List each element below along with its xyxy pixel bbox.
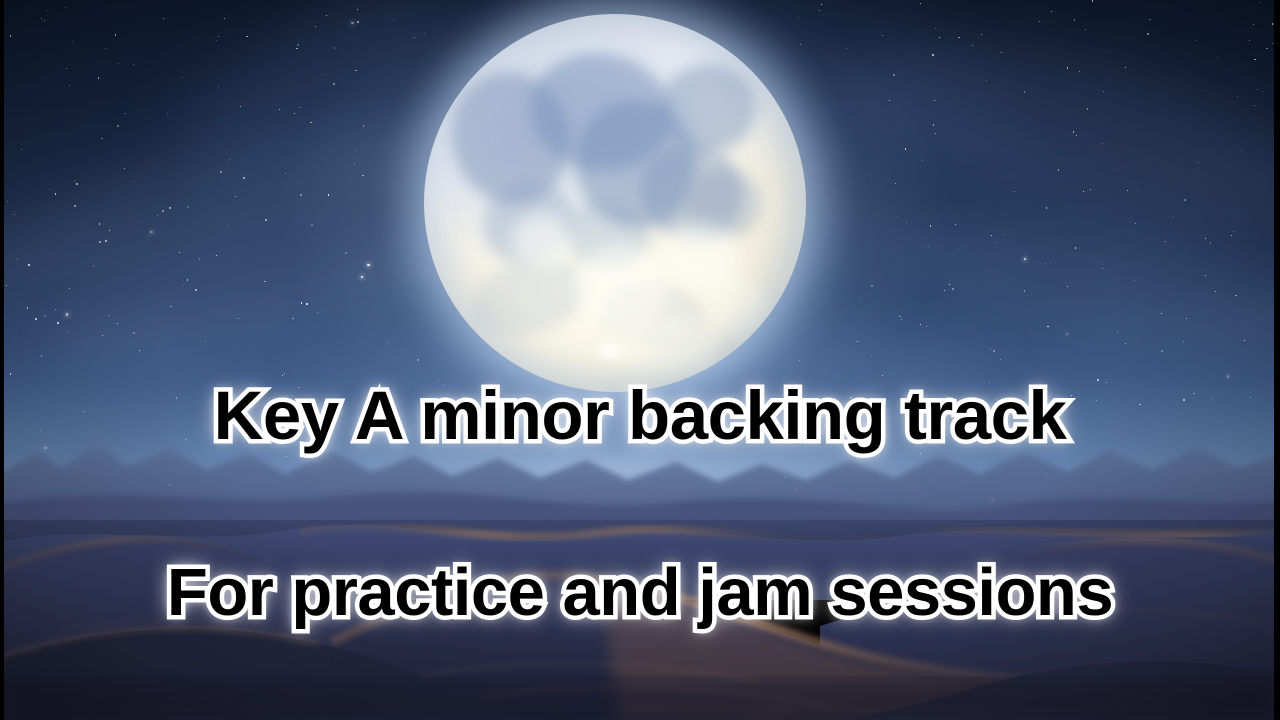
star [297,44,299,46]
star [1254,105,1255,106]
star [218,86,219,87]
star [240,106,241,107]
star [1046,207,1047,208]
star [926,326,927,327]
star [296,48,297,49]
star [438,380,439,381]
star [1260,2,1261,3]
star [1014,191,1015,192]
star [74,205,76,207]
star [935,133,936,134]
star [99,241,101,243]
star [1004,234,1005,235]
star [1125,67,1126,68]
star [326,15,327,16]
star [176,397,178,399]
star [819,10,820,11]
star [101,138,102,139]
star [357,9,358,10]
star [1045,263,1046,264]
star [284,373,285,374]
star [928,246,929,247]
star [205,341,206,342]
star [157,215,158,216]
star [72,41,73,42]
star [939,37,940,38]
star [235,196,236,197]
star [27,307,28,308]
star [944,290,945,291]
star [945,395,946,396]
star [44,315,46,317]
star [920,324,921,325]
star [74,180,75,181]
star [246,36,248,38]
star [930,225,931,226]
star [1138,190,1139,191]
star [1067,286,1068,287]
star [229,159,230,160]
star [28,264,29,265]
star [897,216,898,217]
star [224,18,225,19]
star [1090,189,1091,190]
star [117,371,118,372]
star [105,240,107,242]
star [1024,290,1025,291]
star [972,45,973,46]
star [357,21,358,22]
star [1227,375,1230,378]
star [1000,359,1001,360]
star [167,113,168,114]
star [5,318,6,319]
star [55,193,56,194]
star [1058,169,1059,170]
star [1097,379,1099,381]
moon [424,14,806,392]
star [1253,24,1254,25]
star [955,224,956,225]
star [195,289,197,291]
star [850,397,851,398]
star [882,35,883,36]
star [218,36,219,37]
star [1083,191,1084,192]
star [1024,91,1025,92]
star [93,265,94,266]
star [934,100,936,102]
star [846,48,847,49]
star [993,350,995,352]
star [906,222,907,223]
star [362,175,364,177]
star [958,37,959,38]
star [1217,56,1218,57]
star [1205,275,1206,276]
star [67,331,68,332]
star [238,318,239,319]
star [1165,241,1166,242]
star [1161,313,1162,314]
star [355,150,356,151]
star [47,10,48,11]
star [1215,291,1216,292]
star [355,70,356,71]
star [800,44,801,45]
star [1231,284,1232,285]
star [133,181,134,182]
star [996,242,997,243]
star [991,235,992,236]
star [105,48,106,49]
star [387,342,388,343]
star [139,350,140,351]
star [162,210,164,212]
star [1074,19,1076,21]
star [1244,340,1245,341]
star [893,74,895,76]
star [311,224,313,226]
star [163,18,164,19]
star [798,17,799,18]
star [66,313,69,316]
star [1127,190,1128,191]
star [1198,162,1199,163]
star [1075,247,1076,248]
star [1073,131,1075,133]
star [1092,0,1093,1]
star [117,323,118,324]
star [187,279,188,280]
star [300,194,302,196]
star [1050,263,1051,264]
star [1161,350,1163,352]
star [393,19,394,20]
star [66,68,67,69]
star [932,54,934,56]
star [44,20,45,21]
star [60,153,61,154]
star [905,148,907,150]
star [334,47,336,49]
star [69,288,70,289]
star [99,223,101,225]
star [990,348,991,349]
star [1134,280,1135,281]
star [1250,397,1251,398]
star [109,230,110,231]
star [117,125,119,127]
star [935,28,936,29]
star [1205,238,1206,239]
star [1109,51,1110,52]
star [124,168,125,169]
star [115,34,116,35]
star [1235,295,1236,296]
star [1257,89,1258,90]
star [1173,216,1174,217]
star [301,302,302,303]
star [1210,242,1212,244]
star [118,63,119,64]
star [1102,268,1103,269]
star [187,206,189,208]
star [1051,11,1052,12]
star [1125,343,1126,344]
star [265,219,267,221]
star [1263,91,1264,92]
star [871,356,872,357]
star [1266,48,1268,50]
star [424,33,425,34]
star [882,375,883,376]
star [1001,52,1002,53]
star [1233,231,1234,232]
star [1085,29,1086,30]
letterbox-bar-right [1274,0,1280,720]
star [901,319,902,320]
star [81,315,82,316]
star [35,318,37,320]
star [264,281,265,282]
star [899,316,900,317]
star [228,225,229,226]
star [7,201,8,202]
star [860,377,861,378]
star [150,231,153,234]
star [1067,67,1069,69]
star [292,318,293,319]
star [1186,318,1187,319]
star [895,183,896,184]
star [821,4,822,5]
star [98,77,100,79]
star [183,285,184,286]
star [952,288,954,290]
star [10,35,11,36]
star [417,359,419,361]
star [1149,19,1150,20]
star [414,37,415,38]
star [108,315,109,316]
star [367,264,370,267]
star [57,322,58,323]
star [69,85,70,86]
star [1231,235,1232,236]
star [227,164,228,165]
star [989,382,990,383]
star [216,255,217,256]
star [179,252,180,253]
star [354,164,355,165]
star [860,300,861,301]
star [199,258,200,259]
star [328,194,329,195]
star [1194,195,1195,196]
star [306,303,308,305]
star [41,18,42,19]
star [351,22,354,25]
star [102,335,103,336]
star [922,160,923,161]
star [1184,199,1186,201]
star [10,373,11,374]
star [1193,393,1194,394]
star [17,259,18,260]
star [981,34,982,35]
star [1047,326,1048,327]
star [216,40,217,41]
star [300,107,301,108]
star [169,207,170,208]
video-frame: Key A minor backing track For practice a… [0,0,1280,720]
star [949,284,950,285]
star [133,332,135,334]
star [920,3,921,4]
star [286,395,287,396]
star [182,77,183,78]
star [857,341,858,342]
star [1087,108,1088,109]
star [6,285,7,286]
star [318,217,319,218]
star [1076,135,1077,136]
star [220,171,222,173]
star [310,122,311,123]
star [1237,96,1238,97]
star [315,26,316,27]
star [65,7,66,8]
star [1195,40,1196,41]
star [294,113,295,114]
star [1066,333,1069,336]
star [933,124,934,125]
star [125,113,126,114]
star [243,177,245,179]
star [889,100,890,101]
star [317,312,318,313]
star [298,387,300,389]
star [170,306,171,307]
star [986,80,987,81]
star [133,64,134,65]
star [285,173,286,174]
star [49,189,50,190]
star [1249,40,1250,41]
star [1103,91,1104,92]
star [1241,150,1242,151]
star [41,355,42,356]
star [345,252,347,254]
moon-limb-shading [424,14,806,392]
star [1205,90,1206,91]
star [282,375,283,376]
star [1024,258,1027,261]
desert-landscape [0,430,1280,720]
star [14,214,15,215]
star [1071,395,1072,396]
star [361,276,364,279]
star [871,285,872,286]
star [1039,21,1040,22]
star [1135,223,1137,225]
star [321,74,322,75]
star [55,309,56,310]
star [1102,143,1103,144]
letterbox-bar-left [0,0,4,720]
star [285,253,286,254]
star [1106,382,1107,383]
star [76,183,78,185]
star [279,109,280,110]
star [1254,59,1256,61]
star [1117,331,1118,332]
star [1079,71,1080,72]
star [363,125,364,126]
star [1183,341,1184,342]
star [277,325,278,326]
star [21,149,22,150]
star [333,83,335,85]
star [1147,33,1149,35]
